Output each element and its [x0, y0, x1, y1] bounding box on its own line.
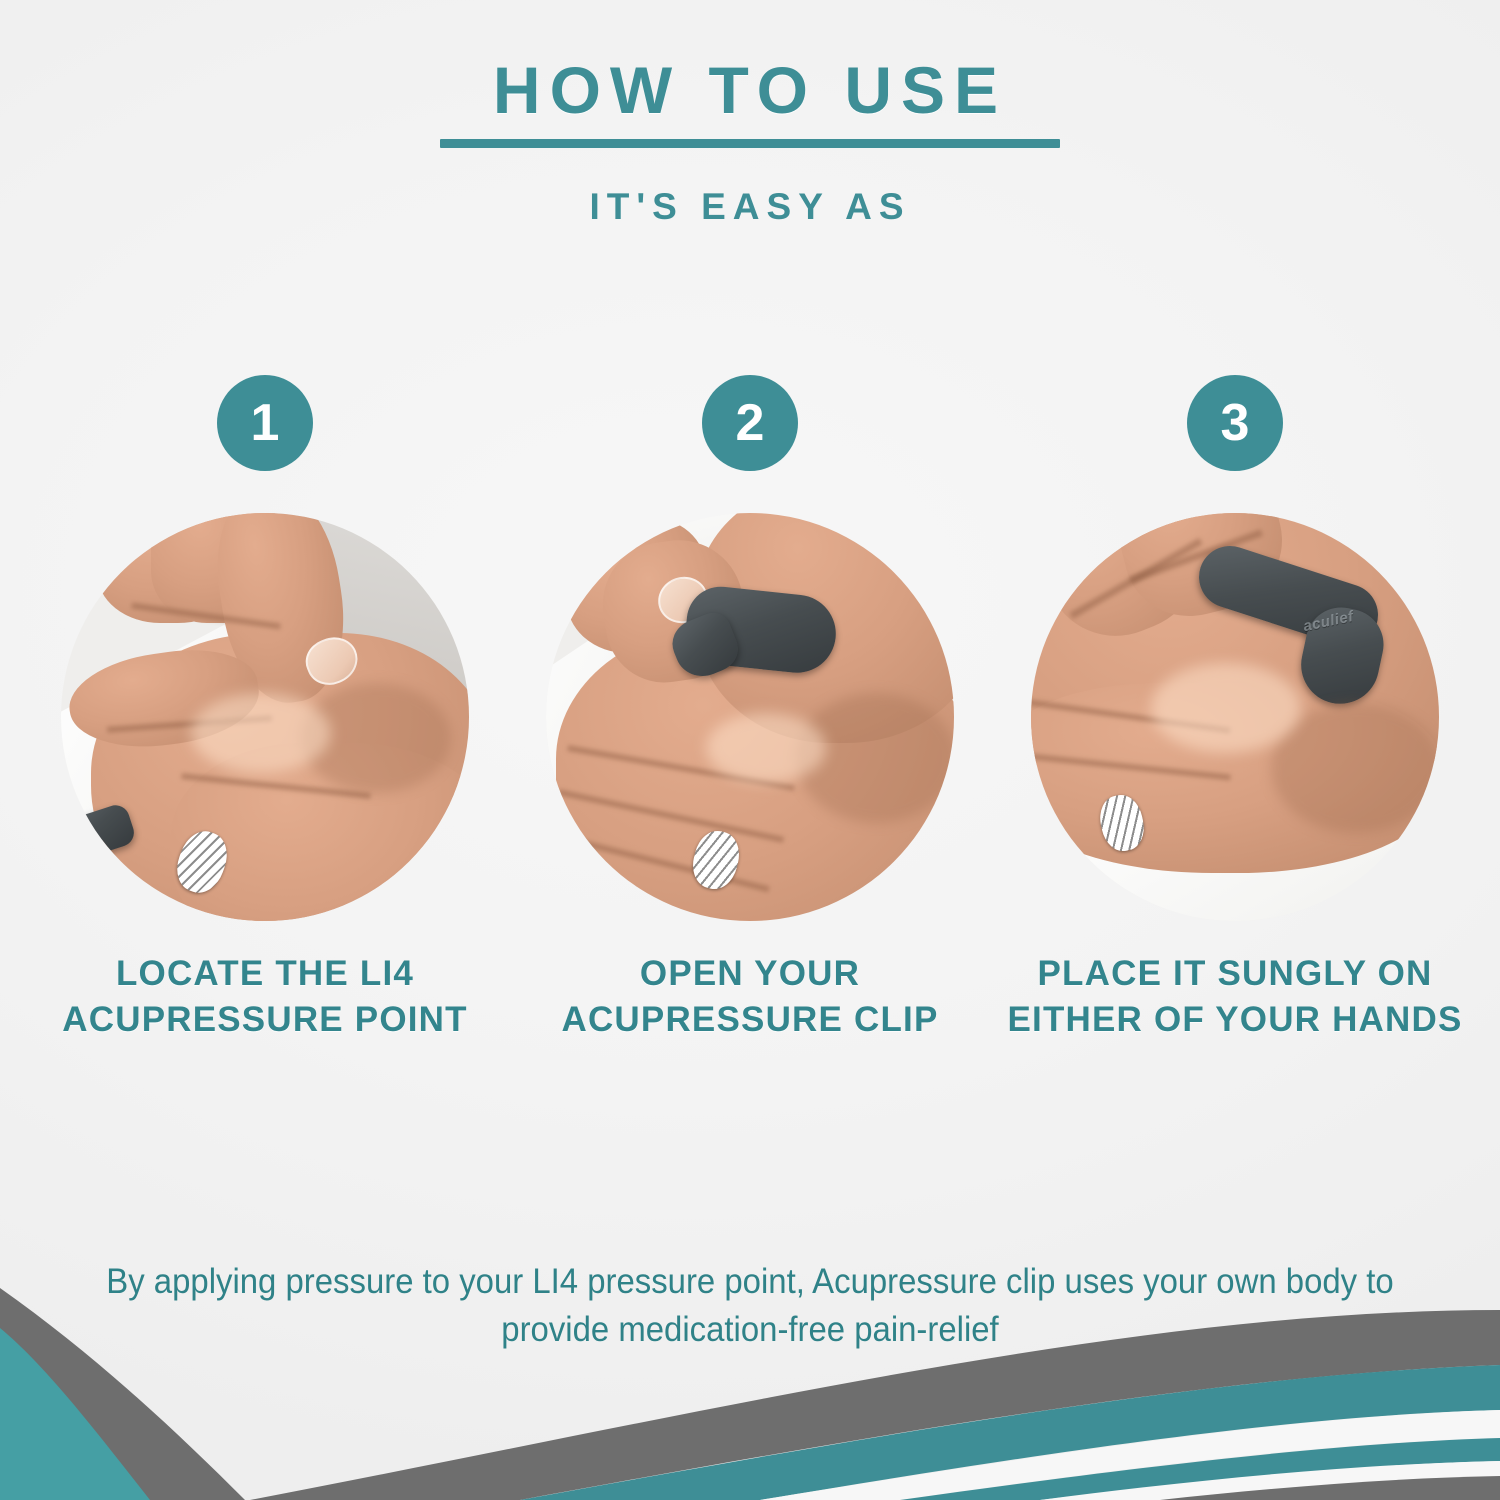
step-2-caption: OPEN YOUR ACUPRESSURE CLIP	[515, 951, 985, 1042]
step-3-photo: aculief	[1031, 513, 1439, 921]
page-title: HOW TO USE	[0, 56, 1500, 125]
step-2-photo	[546, 513, 954, 921]
step-2-number-badge: 2	[702, 375, 798, 471]
decorative-wave-graphic	[0, 1270, 1500, 1500]
step-1: 1	[30, 375, 500, 1042]
how-to-use-infographic: HOW TO USE IT'S EASY AS 1	[0, 0, 1500, 1500]
step-1-number-badge: 1	[217, 375, 313, 471]
step-1-caption: LOCATE THE LI4 ACUPRESSURE POINT	[30, 951, 500, 1042]
steps-row: 1	[0, 375, 1500, 1042]
step-2: 2	[515, 375, 985, 1042]
title-underline-rule	[440, 139, 1060, 148]
step-3-number-badge: 3	[1187, 375, 1283, 471]
header: HOW TO USE IT'S EASY AS	[0, 56, 1500, 228]
page-subtitle: IT'S EASY AS	[0, 186, 1500, 228]
step-3: 3	[1000, 375, 1470, 1042]
step-1-photo	[61, 513, 469, 921]
step-3-caption: PLACE IT SUNGLY ON EITHER OF YOUR HANDS	[1000, 951, 1470, 1042]
